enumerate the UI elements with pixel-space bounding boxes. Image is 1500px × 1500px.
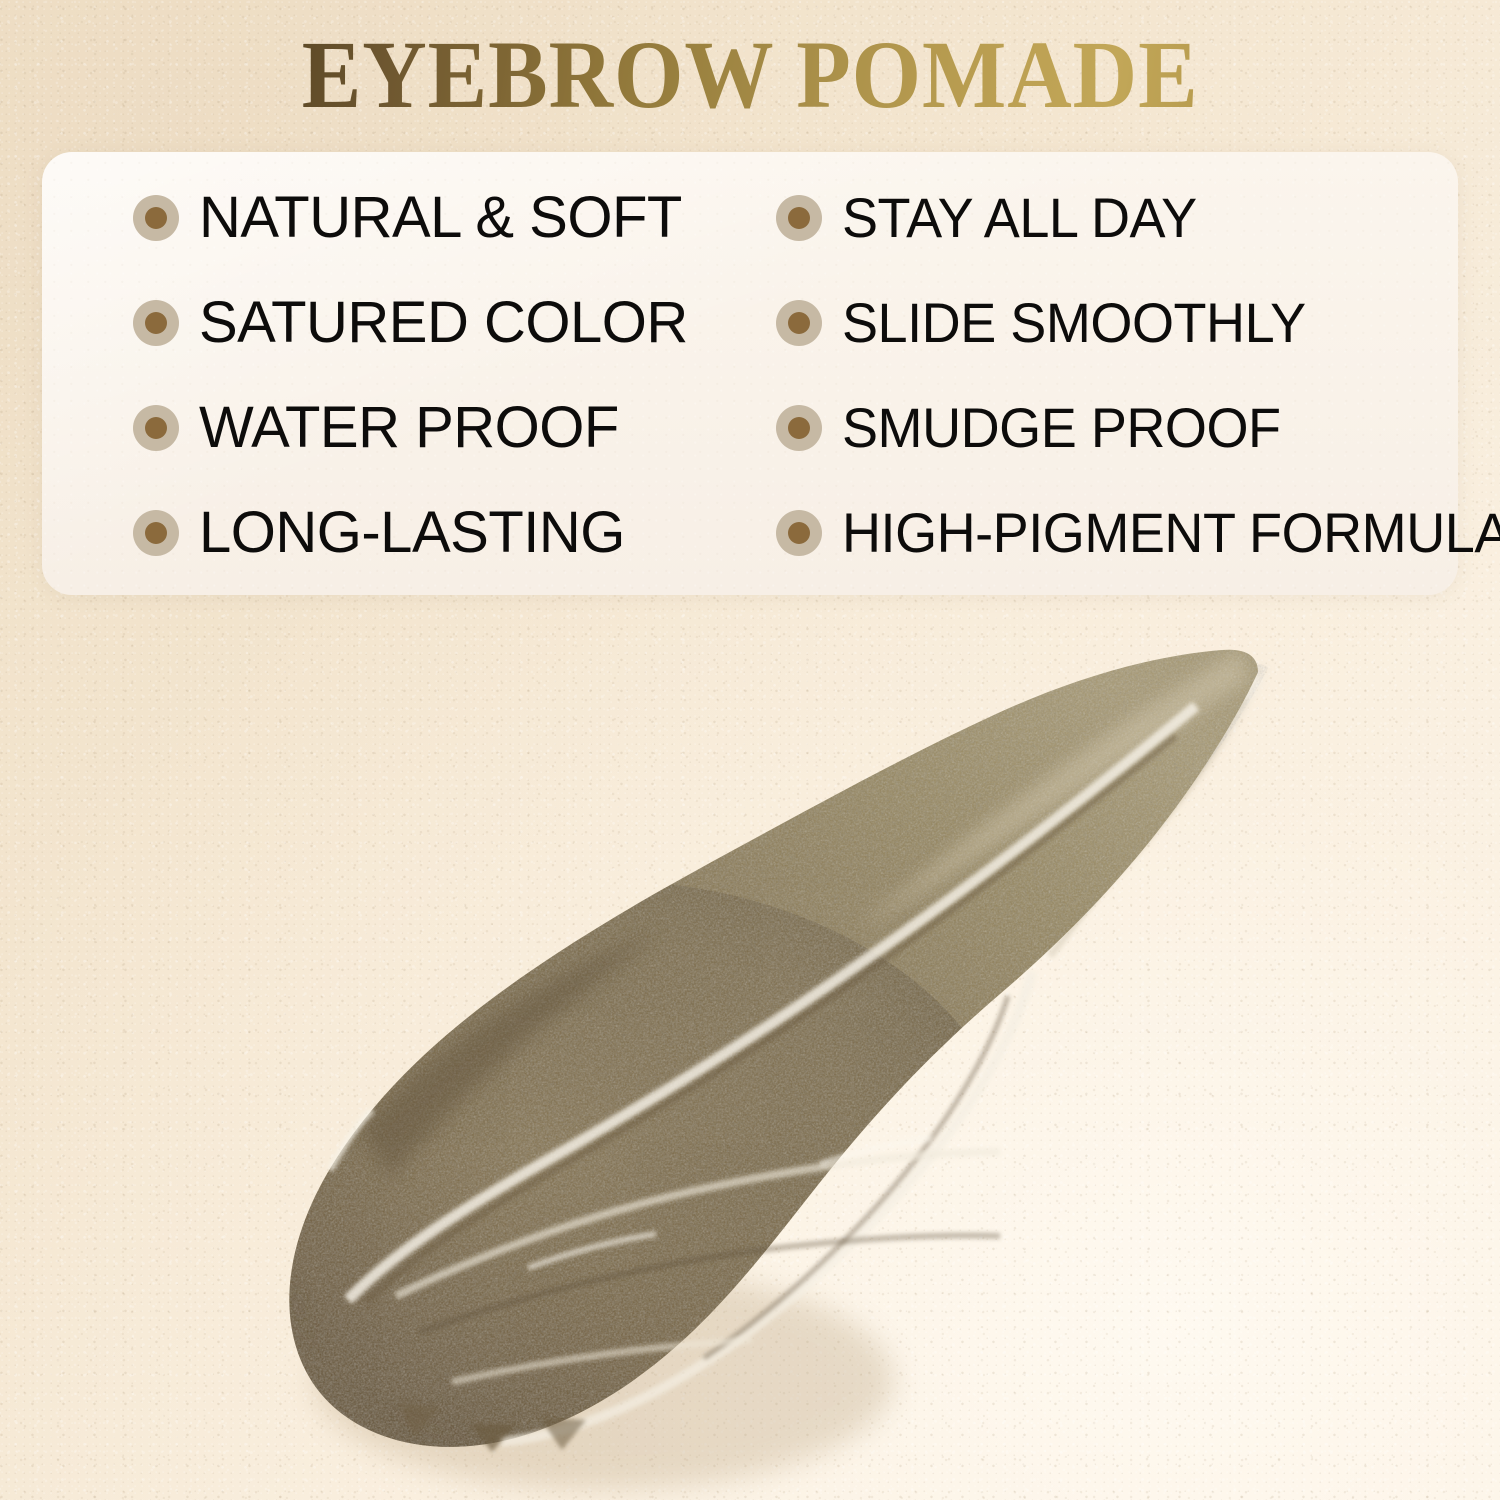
feature-label: WATER PROOF [199,399,619,457]
bullet-dot-icon [776,510,822,556]
feature-label: HIGH-PIGMENT FORMULA [842,505,1500,561]
product-feature-graphic: EYEBROW POMADE NATURAL & SOFT STAY ALL D… [0,0,1500,1500]
bullet-dot-icon [776,195,822,241]
feature-item-stay-all-day: STAY ALL DAY [707,166,1458,271]
feature-label: SLIDE SMOOTHLY [842,295,1306,351]
feature-item-slide-smoothly: SLIDE SMOOTHLY [707,271,1458,376]
feature-item-smudge-proof: SMUDGE PROOF [707,376,1458,481]
feature-item-water-proof: WATER PROOF [42,376,707,481]
feature-label: STAY ALL DAY [842,190,1197,246]
feature-item-natural-and-soft: NATURAL & SOFT [42,166,707,271]
bullet-dot-icon [776,405,822,451]
feature-list: NATURAL & SOFT STAY ALL DAY SATURED COLO… [42,152,1458,595]
bullet-dot-icon [133,405,179,451]
feature-label: NATURAL & SOFT [199,189,682,247]
feature-label: SMUDGE PROOF [842,400,1281,456]
bullet-dot-icon [133,510,179,556]
feature-item-high-pigment-formula: HIGH-PIGMENT FORMULA [707,480,1458,585]
bullet-dot-icon [133,195,179,241]
feature-label: SATURED COLOR [199,294,688,352]
page-title-container: EYEBROW POMADE [0,24,1500,126]
feature-item-long-lasting: LONG-LASTING [42,480,707,585]
feature-card: NATURAL & SOFT STAY ALL DAY SATURED COLO… [42,152,1458,595]
bullet-dot-icon [776,300,822,346]
bullet-dot-icon [133,300,179,346]
page-title: EYEBROW POMADE [302,24,1199,126]
feature-item-satured-color: SATURED COLOR [42,271,707,376]
feature-label: LONG-LASTING [199,504,625,562]
